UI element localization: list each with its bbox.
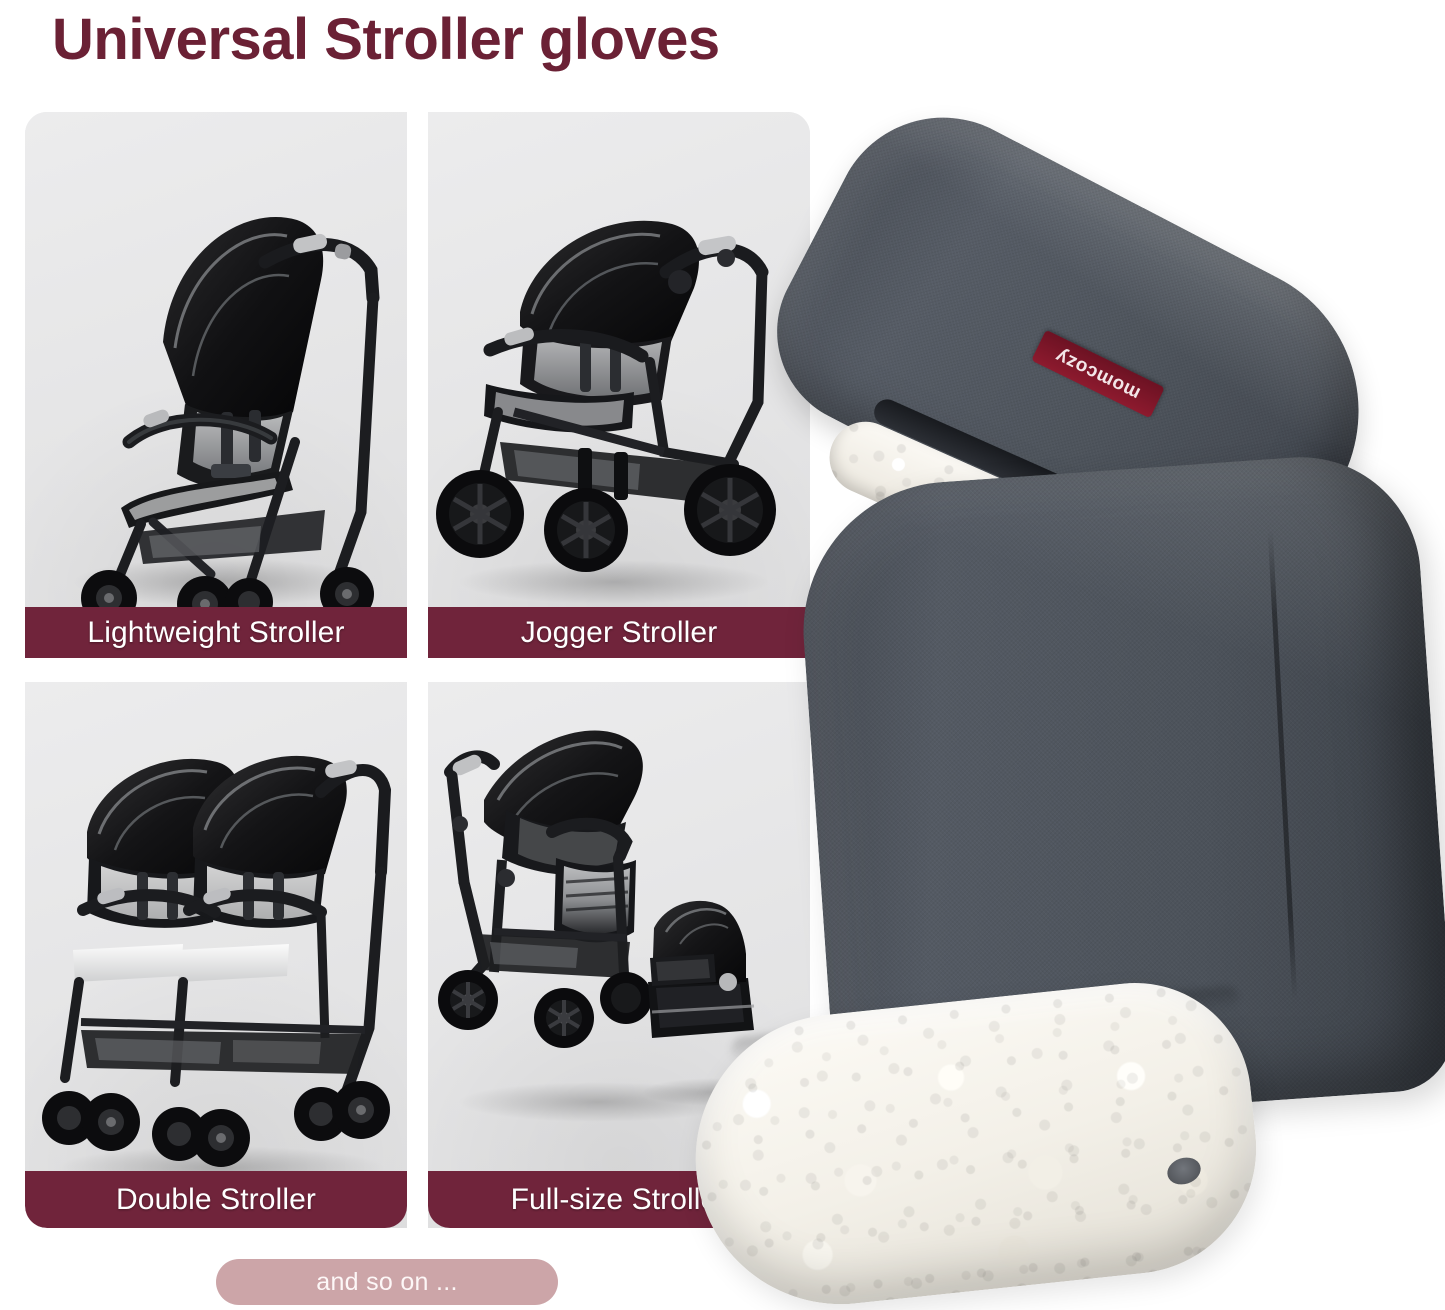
stroller-card-label-jogger: Jogger Stroller [428, 607, 810, 658]
jogger-stroller-icon [428, 112, 810, 658]
glove-seam [1268, 530, 1298, 1000]
stroller-card-label-fullsize: Full-size Stroller [428, 1171, 810, 1228]
glove-cuff-notch [1164, 1153, 1204, 1188]
stroller-type-grid: Lightweight Stroller [25, 112, 810, 1228]
jogger-stroller-photo [428, 112, 810, 658]
and-so-on-label: and so on ... [316, 1268, 458, 1297]
double-stroller-icon [25, 682, 407, 1228]
brand-tag-label: momcozy [1052, 344, 1144, 404]
double-stroller-photo [25, 682, 407, 1228]
lightweight-stroller-icon [25, 112, 407, 658]
glove-upper-opening [870, 395, 1182, 553]
glove-upper-sherpa-lining [818, 410, 1240, 651]
stroller-card-label-double: Double Stroller [25, 1171, 407, 1228]
glove-lower-mitt [793, 449, 1445, 1131]
full-size-stroller-photo [428, 682, 810, 1228]
glove-snap-button [935, 495, 981, 535]
stroller-card-jogger[interactable]: Jogger Stroller [428, 112, 810, 658]
page-title: Universal Stroller gloves [52, 6, 720, 73]
stroller-card-fullsize[interactable]: Full-size Stroller [428, 682, 810, 1228]
product-marketing-image: Universal Stroller gloves [0, 0, 1445, 1310]
full-size-stroller-icon [428, 682, 810, 1228]
stroller-card-double[interactable]: Double Stroller [25, 682, 407, 1228]
lightweight-stroller-photo [25, 112, 407, 658]
stroller-card-lightweight[interactable]: Lightweight Stroller [25, 112, 407, 658]
stroller-card-label-lightweight: Lightweight Stroller [25, 607, 407, 658]
glove-upper-mitt [744, 79, 1411, 640]
brand-tag: momcozy [1031, 330, 1165, 418]
and-so-on-pill[interactable]: and so on ... [216, 1259, 558, 1305]
